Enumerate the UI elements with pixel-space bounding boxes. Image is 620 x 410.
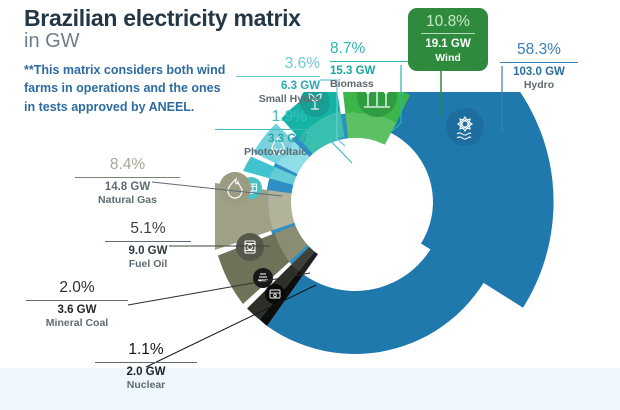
label-natural-gas-gw: 14.8 GW [75,181,180,195]
label-mineral-coal-gw: 3.6 GW [26,304,128,318]
label-hydro: 58.3% 103.0 GW Hydro [500,42,578,92]
label-hydro-gw: 103.0 GW [500,66,578,80]
label-photovoltaic: 1.9% 3.3 GW Photovoltaic [215,109,307,159]
label-natural-gas-src: Natural Gas [75,194,180,207]
label-photovoltaic-pct: 1.9% [215,109,307,125]
label-biomass-rule [330,61,410,62]
label-nuclear-rule [95,362,197,363]
label-fuel-oil: 5.1% 9.0 GW Fuel Oil [105,221,191,271]
label-nuclear: 1.1% 2.0 GW Nuclear [95,342,197,392]
label-photovoltaic-gw: 3.3 GW [215,133,307,147]
label-wind-rule [421,33,475,34]
label-wind-pct: 10.8% [419,13,477,30]
label-wind-src: Wind [419,52,477,65]
label-fuel-oil-gw: 9.0 GW [105,245,191,259]
donut-center-hole [291,138,419,266]
wind-turbine-icon [364,92,390,107]
label-biomass-gw: 15.3 GW [330,65,410,79]
infographic-canvas: Brazilian electricity matrix in GW **Thi… [0,0,620,410]
page-subtitle: in GW [24,31,80,52]
label-small-hydro: 3.6% 6.3 GW Small Hydro [236,56,320,106]
label-hydro-src: Hydro [500,79,578,92]
badge-hydro[interactable] [446,108,484,146]
label-mineral-coal-src: Mineral Coal [26,317,128,330]
label-small-hydro-gw: 6.3 GW [236,80,320,94]
label-natural-gas: 8.4% 14.8 GW Natural Gas [75,157,180,207]
label-mineral-coal-rule [26,300,128,301]
badge-nuclear[interactable] [265,284,285,304]
label-fuel-oil-rule [105,241,191,242]
label-wind[interactable]: 10.8% 19.1 GW Wind [408,8,488,71]
label-small-hydro-rule [236,76,320,77]
label-small-hydro-src: Small Hydro [236,93,320,106]
page-title: Brazilian electricity matrix [24,6,301,30]
label-biomass: 8.7% 15.3 GW Biomass [330,41,410,91]
badge-fuel-oil[interactable] [236,233,264,261]
label-nuclear-gw: 2.0 GW [95,366,197,380]
label-biomass-pct: 8.7% [330,41,410,57]
label-mineral-coal-pct: 2.0% [26,280,128,296]
footnote-text: **This matrix considers both wind farms … [24,61,234,116]
label-photovoltaic-src: Photovoltaic [215,146,307,159]
label-hydro-pct: 58.3% [500,42,578,58]
label-wind-gw: 19.1 GW [419,38,477,52]
label-mineral-coal: 2.0% 3.6 GW Mineral Coal [26,280,128,330]
badge-mineral-coal[interactable] [253,268,273,288]
label-natural-gas-rule [75,177,180,178]
label-nuclear-src: Nuclear [95,379,197,392]
label-small-hydro-pct: 3.6% [236,56,320,72]
label-nuclear-pct: 1.1% [95,342,197,358]
label-hydro-rule [500,62,578,63]
label-photovoltaic-rule [215,129,307,130]
badge-natural-gas[interactable] [219,172,251,204]
label-fuel-oil-src: Fuel Oil [105,258,191,271]
label-fuel-oil-pct: 5.1% [105,221,191,237]
label-natural-gas-pct: 8.4% [75,157,180,173]
label-biomass-src: Biomass [330,78,410,91]
